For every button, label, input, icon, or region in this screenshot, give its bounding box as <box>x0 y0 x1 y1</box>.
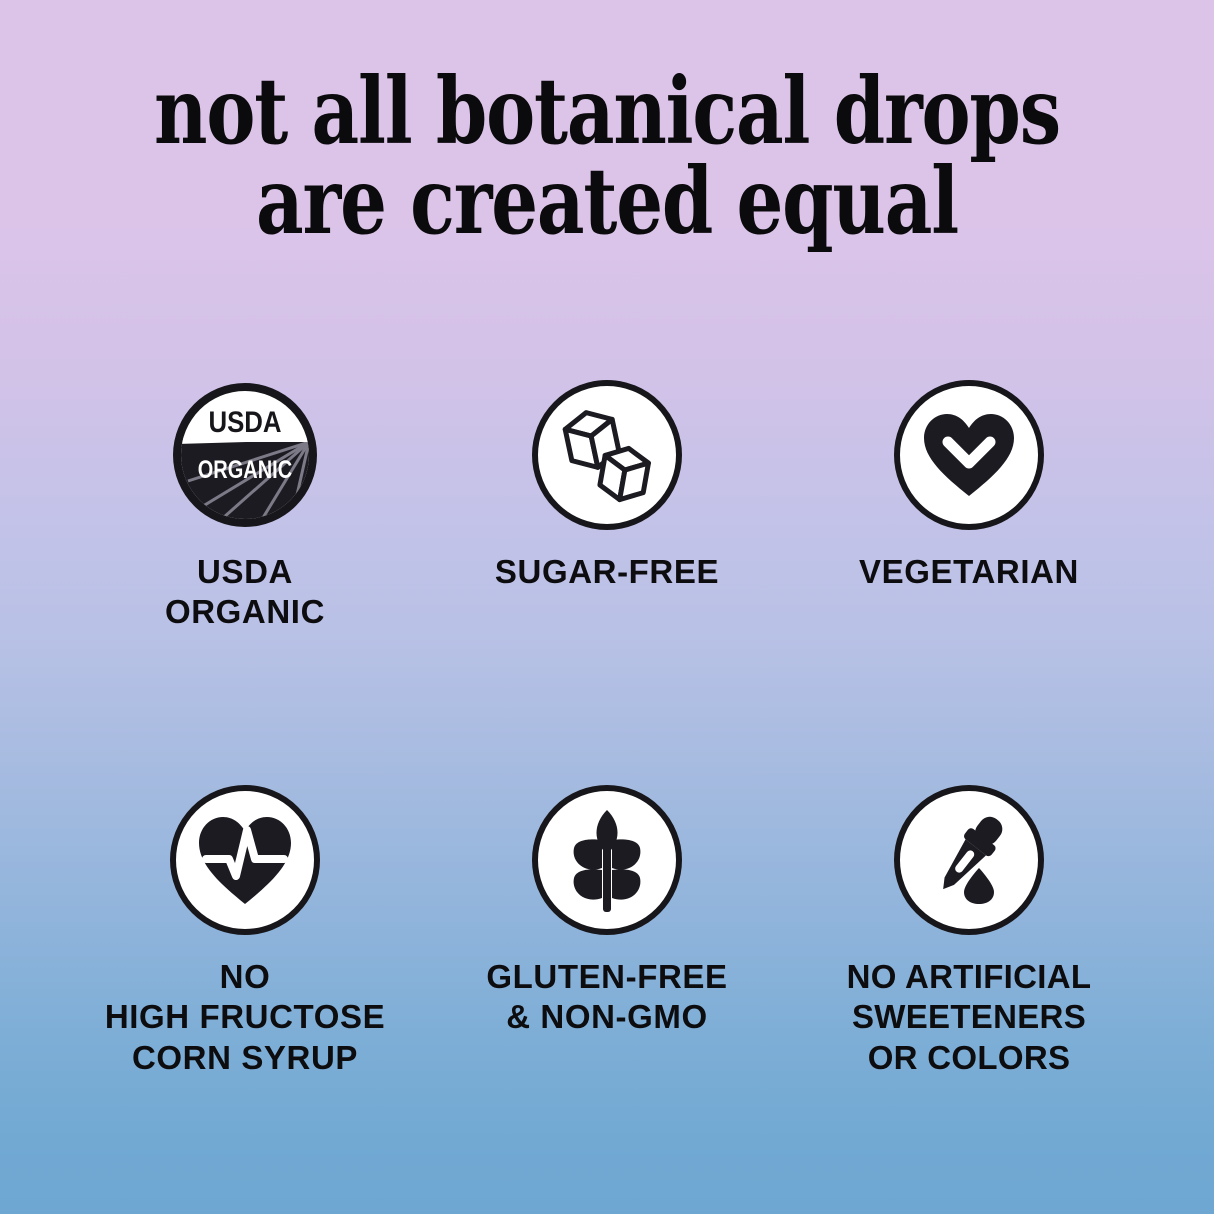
promo-poster: not all botanical drops are created equa… <box>0 0 1214 1214</box>
badge-usda-organic: USDA ORGANIC USDA ORGANIC <box>64 380 426 633</box>
badge-caption: NO ARTIFICIAL SWEETENERS OR COLORS <box>847 957 1092 1078</box>
badge-row-top: USDA ORGANIC USDA ORGANIC <box>0 380 1214 633</box>
badge-caption: VEGETARIAN <box>859 552 1079 592</box>
usda-organic-seal-icon: USDA ORGANIC <box>170 380 320 530</box>
seal-top-text: USDA <box>208 405 281 438</box>
badge-sugar-free: SUGAR-FREE <box>426 380 788 633</box>
badge-row-bottom: NO HIGH FRUCTOSE CORN SYRUP <box>0 785 1214 1078</box>
sugar-cubes-icon <box>532 380 682 530</box>
wheat-stalk-icon <box>532 785 682 935</box>
badge-caption: NO HIGH FRUCTOSE CORN SYRUP <box>105 957 385 1078</box>
seal-bottom-text: ORGANIC <box>198 456 292 484</box>
badge-caption: GLUTEN-FREE & NON-GMO <box>486 957 727 1038</box>
badge-gluten-free: GLUTEN-FREE & NON-GMO <box>426 785 788 1078</box>
badge-no-hfcs: NO HIGH FRUCTOSE CORN SYRUP <box>64 785 426 1078</box>
heart-pulse-icon <box>170 785 320 935</box>
badge-vegetarian: VEGETARIAN <box>788 380 1150 633</box>
badge-caption: SUGAR-FREE <box>495 552 719 592</box>
badge-no-artificial: NO ARTIFICIAL SWEETENERS OR COLORS <box>788 785 1150 1078</box>
heart-check-icon <box>894 380 1044 530</box>
badge-caption: USDA ORGANIC <box>165 552 325 633</box>
benefit-badge-grid: USDA ORGANIC USDA ORGANIC <box>0 380 1214 1180</box>
dropper-droplet-icon <box>894 785 1044 935</box>
page-title: not all botanical drops are created equa… <box>121 66 1092 246</box>
